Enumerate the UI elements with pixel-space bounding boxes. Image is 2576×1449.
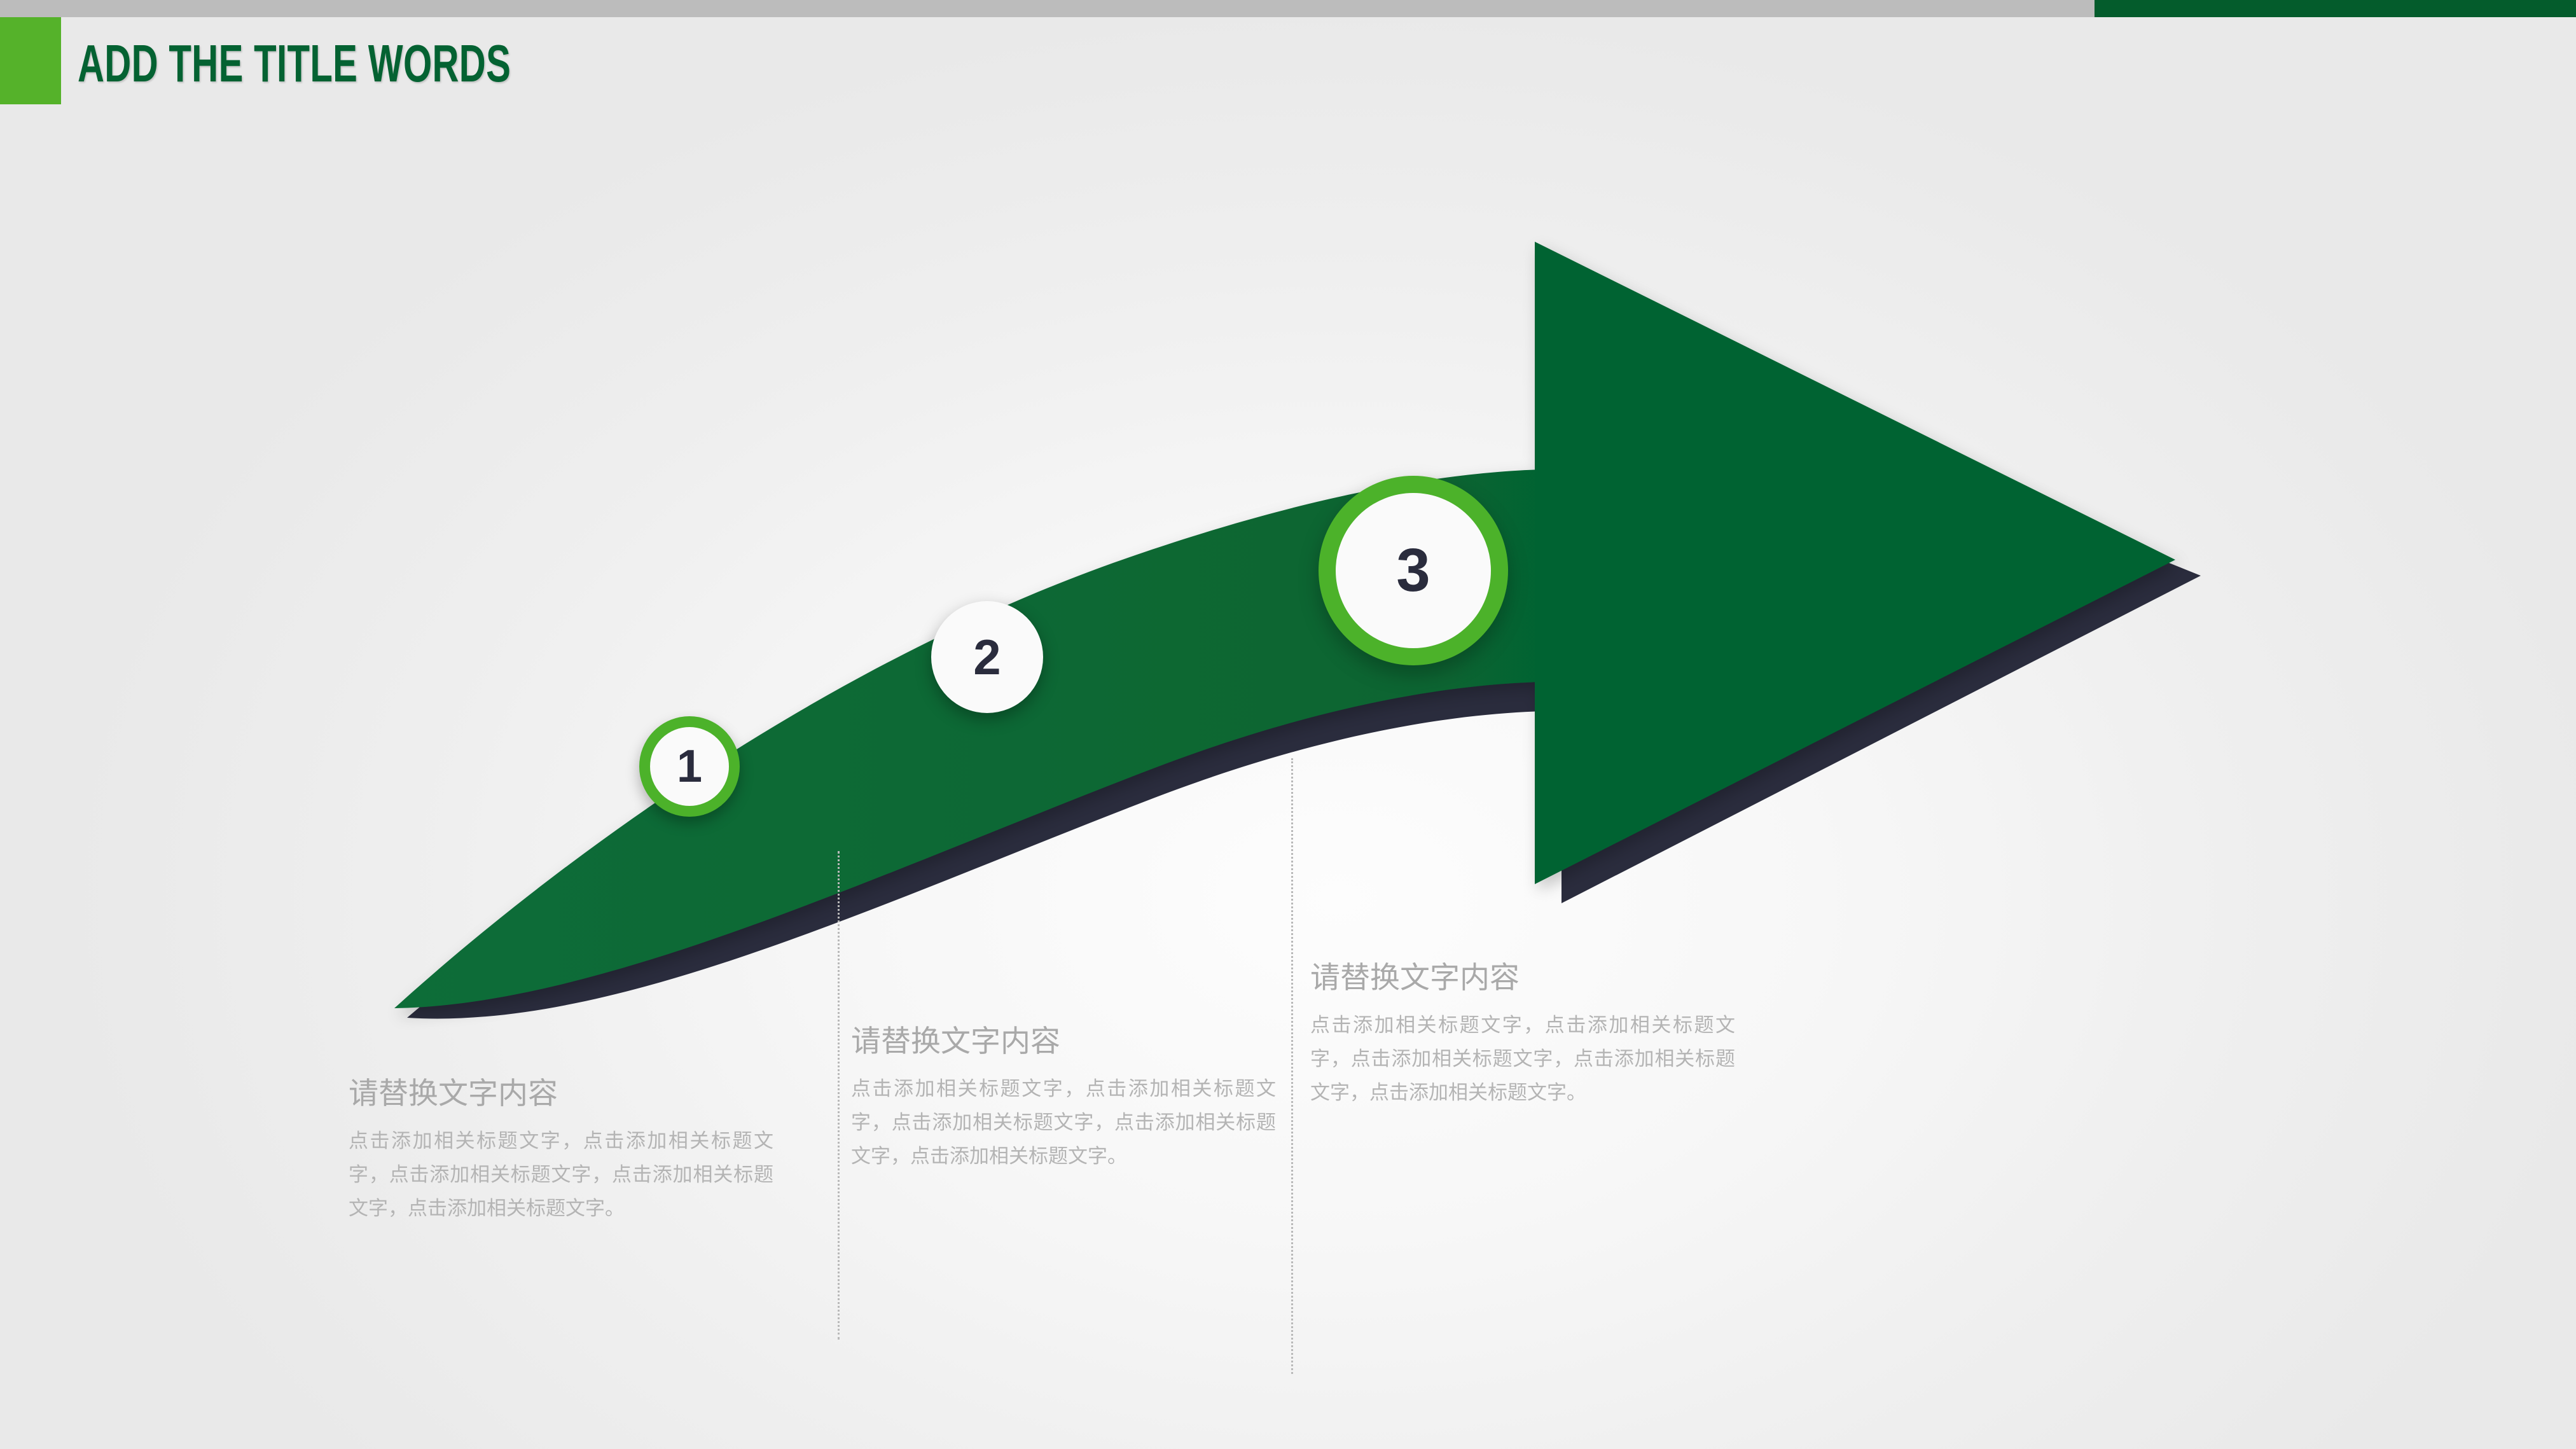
text-block-3-heading: 请替换文字内容 — [1310, 959, 1735, 997]
text-block-1[interactable]: 请替换文字内容 点击添加相关标题文字，点击添加相关标题文字，点击添加相关标题文字… — [349, 1075, 773, 1226]
page-title: ADD THE TITLE WORDS — [78, 37, 511, 90]
curved-arrow-graphic — [0, 0, 2576, 1449]
step-circle-3[interactable]: 3 — [1319, 476, 1508, 665]
step-number-1: 1 — [677, 740, 702, 793]
slide-canvas: ADD THE TITLE WORDS 1 2 3 — [0, 0, 2576, 1449]
text-block-3[interactable]: 请替换文字内容 点击添加相关标题文字，点击添加相关标题文字，点击添加相关标题文字… — [1310, 959, 1735, 1110]
step-circle-2[interactable]: 2 — [931, 601, 1043, 713]
top-bar-gray-segment — [0, 0, 2095, 17]
text-block-2[interactable]: 请替换文字内容 点击添加相关标题文字，点击添加相关标题文字，点击添加相关标题文字… — [851, 1023, 1276, 1174]
step-circle-1[interactable]: 1 — [639, 716, 740, 817]
text-block-2-heading: 请替换文字内容 — [851, 1023, 1276, 1060]
arrow-shadow-layer — [407, 318, 2201, 1018]
step-number-3: 3 — [1396, 536, 1430, 606]
step-number-2: 2 — [973, 628, 1001, 686]
top-bar-green-segment — [2095, 0, 2576, 17]
arrow-green-layer — [394, 242, 2175, 1008]
text-block-3-body: 点击添加相关标题文字，点击添加相关标题文字，点击添加相关标题文字，点击添加相关标… — [1310, 1008, 1735, 1110]
text-block-2-body: 点击添加相关标题文字，点击添加相关标题文字，点击添加相关标题文字，点击添加相关标… — [851, 1072, 1276, 1174]
divider-line-2 — [1291, 758, 1293, 1374]
text-block-1-body: 点击添加相关标题文字，点击添加相关标题文字，点击添加相关标题文字，点击添加相关标… — [349, 1124, 773, 1226]
divider-line-1 — [838, 851, 840, 1340]
title-accent-swatch — [0, 17, 61, 104]
text-block-1-heading: 请替换文字内容 — [349, 1075, 773, 1113]
